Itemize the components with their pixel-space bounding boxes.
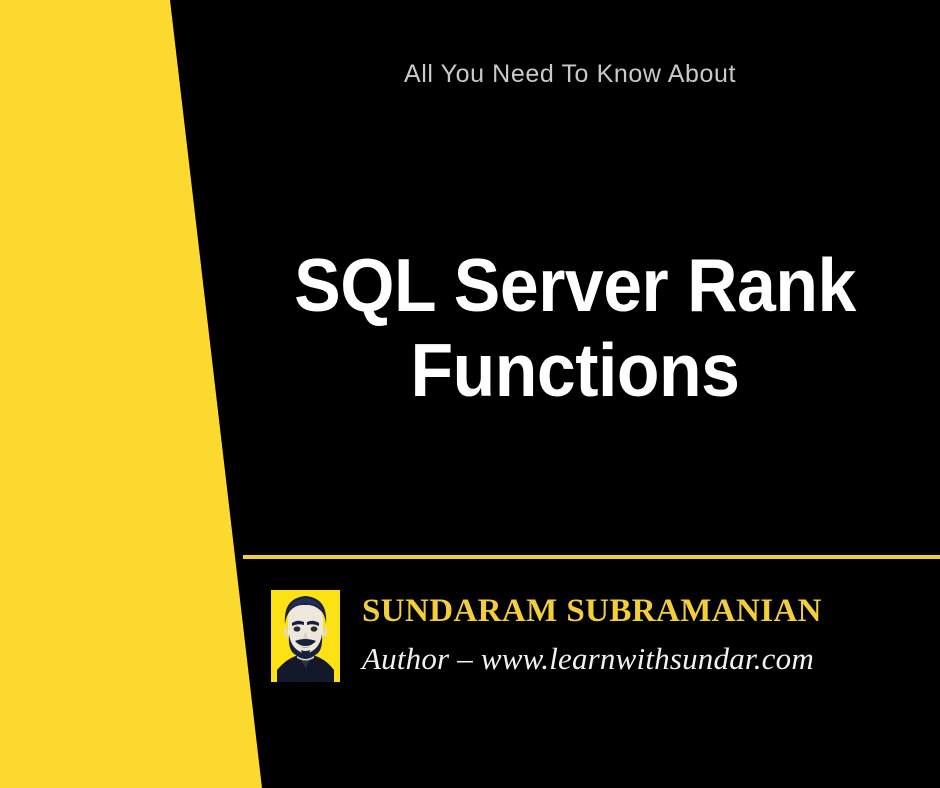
author-name: SUNDARAM SUBRAMANIAN [362, 593, 822, 631]
byline-text: SUNDARAM SUBRAMANIAN Author – www.learnw… [362, 590, 822, 676]
title-card: All You Need To Know About SQL Server Ra… [0, 0, 940, 788]
divider-rule [243, 555, 940, 559]
author-role: Author – www.learnwithsundar.com [362, 642, 822, 676]
author-portrait-icon [271, 590, 340, 682]
byline: SUNDARAM SUBRAMANIAN Author – www.learnw… [271, 590, 822, 682]
page-title: SQL Server Rank Functions [235, 243, 915, 413]
title-line-1: SQL Server Rank [259, 243, 891, 328]
title-line-2: Functions [259, 328, 891, 413]
kicker-text: All You Need To Know About [290, 60, 850, 89]
avatar [271, 590, 340, 682]
